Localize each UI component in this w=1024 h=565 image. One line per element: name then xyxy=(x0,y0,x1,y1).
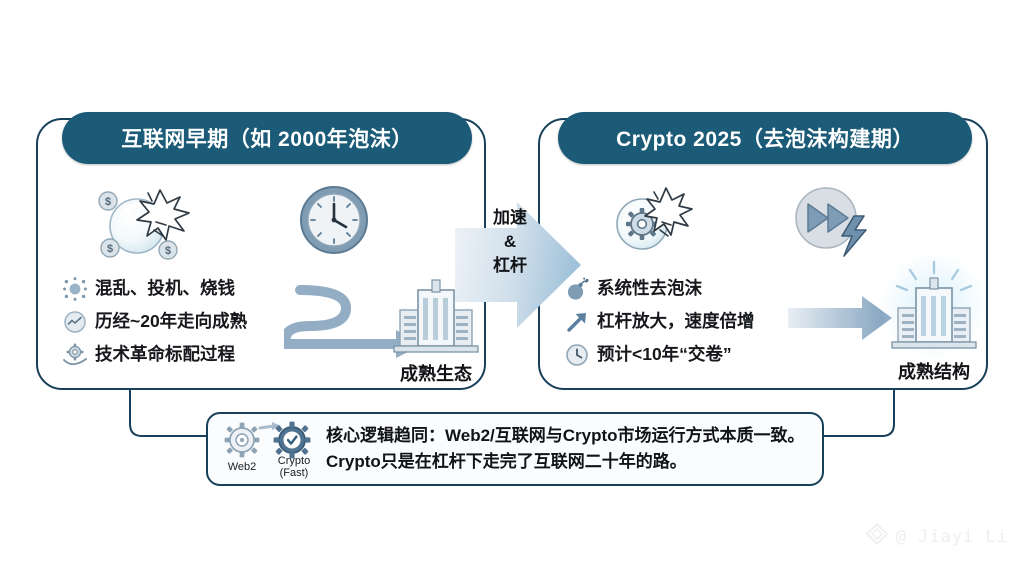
svg-text:$: $ xyxy=(165,245,171,257)
panel-crypto-2025: Crypto 2025（去泡沫构建期） xyxy=(538,118,988,390)
right-outcome-label: 成熟结构 xyxy=(864,358,1004,384)
web2-gear-label: Web2 xyxy=(218,462,266,474)
chaos-scatter-icon xyxy=(60,276,90,302)
panel-internet-early: 互联网早期（如 2000年泡沫） xyxy=(36,118,486,390)
right-panel-bullet-list: 系统性去泡沫 杠杆放大，速度倍增 xyxy=(562,272,806,371)
watermark-handle: @ Jiayi Li xyxy=(896,527,1008,547)
arrow-line-1: 加速 xyxy=(455,206,565,230)
crypto-gear-label: Crypto (Fast) xyxy=(268,456,320,479)
gear-bubble-burst-icon xyxy=(602,180,712,265)
bubble-burst-money-icon: $$$ xyxy=(90,178,210,267)
right-outcome: 成熟结构 xyxy=(788,262,948,377)
list-item-label: 杠杆放大，速度倍增 xyxy=(597,313,755,331)
list-item: 技术革命标配过程 xyxy=(60,338,304,371)
list-item: 杠杆放大，速度倍增 xyxy=(562,305,806,338)
list-item: 混乱、投机、烧钱 xyxy=(60,272,304,305)
summary-lead: 核心逻辑趋同： xyxy=(326,426,445,445)
accelerate-leverage-label: 加速 & 杠杆 xyxy=(455,206,565,278)
left-panel-bullet-list: 混乱、投机、烧钱 历经~20年走向成熟 xyxy=(60,272,304,371)
summary-line-2: Crypto只是在杠杆下走完了互联网二十年的路。 xyxy=(326,449,805,475)
list-item-label: 预计<10年“交卷” xyxy=(597,346,732,364)
svg-text:$: $ xyxy=(105,196,111,208)
clock-chart-icon xyxy=(60,309,90,335)
right-panel-icon-row xyxy=(540,176,986,260)
crypto-gear-label-line2: (Fast) xyxy=(268,468,320,480)
watermark: @ Jiayi Li xyxy=(865,522,1008,551)
infographic-canvas: 互联网早期（如 2000年泡沫） xyxy=(0,0,1024,565)
svg-text:$: $ xyxy=(107,243,113,255)
arrow-line-2: & xyxy=(455,230,565,254)
left-panel-icon-row: $$$ xyxy=(38,176,484,260)
panel-left-title: 互联网早期（如 2000年泡沫） xyxy=(62,112,472,164)
list-item-label: 系统性去泡沫 xyxy=(597,280,702,298)
list-item-label: 技术革命标配过程 xyxy=(95,346,235,364)
diamond-logo-icon xyxy=(865,522,889,551)
left-outcome: 成熟生态 xyxy=(284,270,484,385)
fast-forward-bolt-icon xyxy=(786,180,878,267)
web2-crypto-gears: Web2 Crypto (Fast) xyxy=(216,418,324,480)
summary-line-1: 核心逻辑趋同：Web2/互联网与Crypto市场运行方式本质一致。 xyxy=(326,423,805,449)
summary-box: Web2 Crypto (Fast) 核心逻辑趋同：Web2/互联网与Crypt… xyxy=(206,412,824,486)
list-item: 系统性去泡沫 xyxy=(562,272,806,305)
list-item: 历经~20年走向成熟 xyxy=(60,305,304,338)
left-outcome-label: 成熟生态 xyxy=(366,360,506,386)
arrow-line-3: 杠杆 xyxy=(455,254,565,278)
crypto-gear-label-line1: Crypto xyxy=(268,456,320,468)
wall-clock-icon xyxy=(294,180,374,265)
gear-in-hand-icon xyxy=(60,342,90,368)
summary-line-1-rest: Web2/互联网与Crypto市场运行方式本质一致。 xyxy=(445,426,805,445)
clock-icon xyxy=(562,342,592,368)
panel-right-title: Crypto 2025（去泡沫构建期） xyxy=(558,112,972,164)
glowing-building-icon xyxy=(882,256,986,365)
list-item-label: 历经~20年走向成熟 xyxy=(95,313,247,331)
list-item: 预计<10年“交卷” xyxy=(562,338,806,371)
summary-text: 核心逻辑趋同：Web2/互联网与Crypto市场运行方式本质一致。 Crypto… xyxy=(326,423,805,475)
list-item-label: 混乱、投机、烧钱 xyxy=(95,280,235,298)
